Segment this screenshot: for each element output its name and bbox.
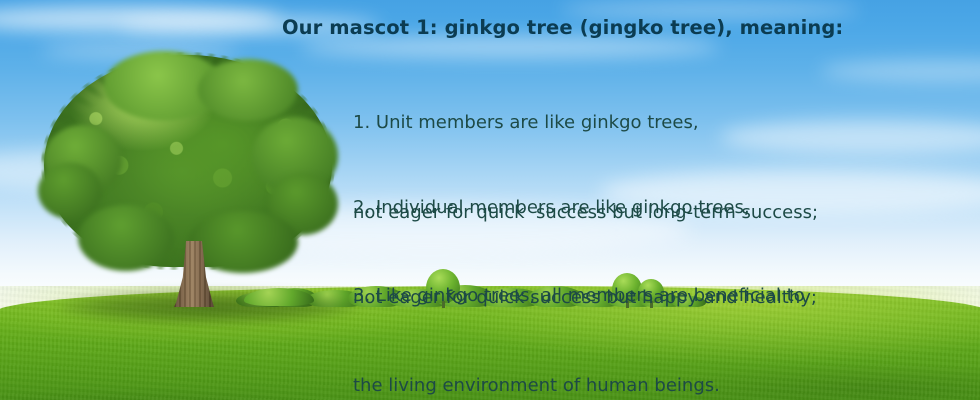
mascot-banner: Our mascot 1: ginkgo tree (gingko tree),…	[0, 0, 980, 400]
mascot-point-3: 3. Like ginkgo trees, all members are be…	[353, 221, 953, 400]
point-2-line-1: 2. Individual members are like ginkgo tr…	[353, 193, 953, 223]
point-3-line-2: the living environment of human beings.	[353, 371, 953, 400]
banner-text-block: Our mascot 1: ginkgo tree (gingko tree),…	[0, 0, 980, 300]
point-3-line-1: 3. Like ginkgo trees, all members are be…	[353, 281, 953, 311]
page-title: Our mascot 1: ginkgo tree (gingko tree),…	[282, 16, 902, 39]
